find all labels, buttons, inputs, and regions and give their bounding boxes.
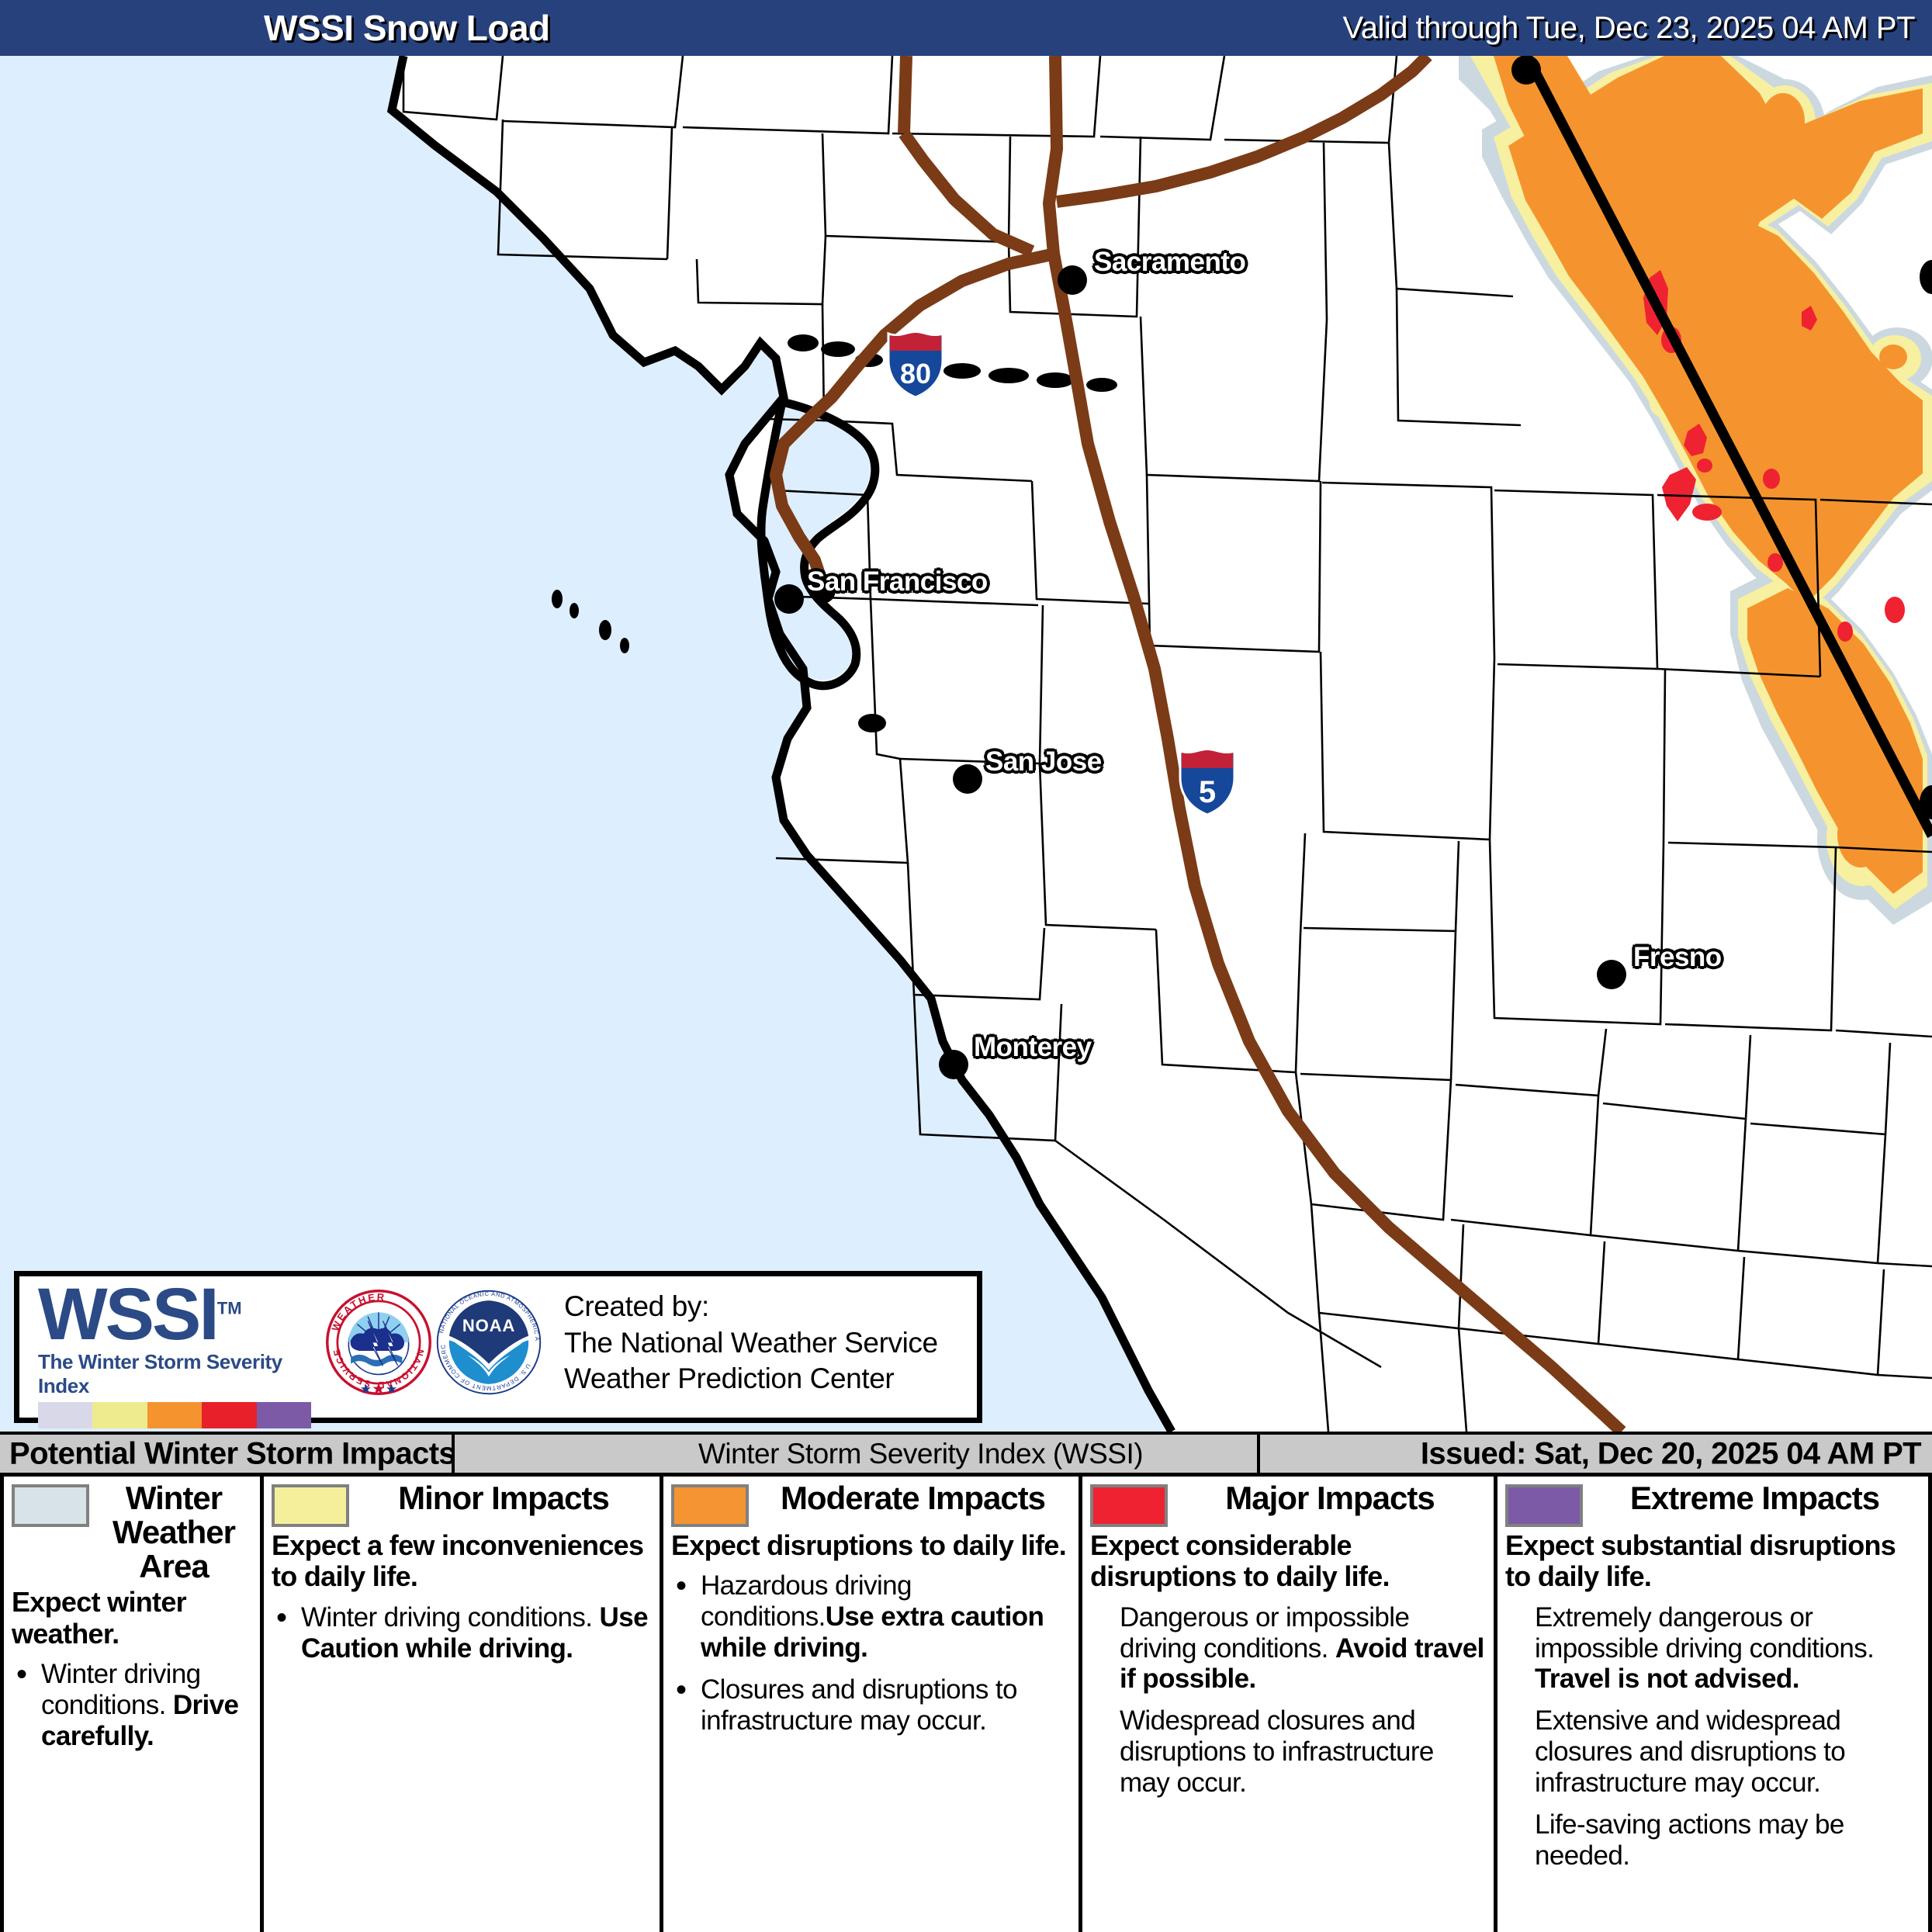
legend-bullet: Extensive and widespread closures and di… (1505, 1705, 1920, 1799)
status-bar: Potential Winter Storm Impacts Winter St… (0, 1432, 1932, 1477)
legend-bullets-extreme: Extremely dangerous or impossible drivin… (1505, 1602, 1920, 1871)
status-bar-divider-1 (452, 1435, 455, 1473)
wssi-subtitle: The Winter Storm Severity Index (38, 1350, 322, 1398)
bullet-plain-text: Widespread closures and disruptions to i… (1120, 1705, 1434, 1798)
status-bar-left-label: Potential Winter Storm Impacts (9, 1436, 455, 1471)
legend-swatch-winter-weather-area (12, 1484, 89, 1527)
created-by-line-1: Created by: (564, 1289, 938, 1325)
wssi-brand: WSSITM The Winter Storm Severity Index (19, 1276, 322, 1428)
scale-swatch-minor (92, 1402, 147, 1428)
legend-swatch-minor (272, 1484, 349, 1527)
nws-seal-icon: WEATHER NATIONAL SERVICE (325, 1289, 432, 1396)
legend-swatch-moderate (671, 1484, 749, 1527)
scale-swatch-extreme (257, 1402, 311, 1428)
legend-bullets-moderate: Hazardous driving conditions.Use extra c… (671, 1570, 1071, 1736)
legend-column-minor[interactable]: Minor Impacts Expect a few inconvenience… (264, 1477, 663, 1932)
status-bar-issued-label: Issued: Sat, Dec 20, 2025 04 AM PT (1421, 1436, 1921, 1471)
wssi-color-scale (38, 1402, 311, 1428)
created-by-line-3: Weather Prediction Center (564, 1361, 938, 1397)
created-by-block: Created by: The National Weather Service… (564, 1289, 938, 1397)
valid-through-text: Valid through Tue, Dec 23, 2025 04 AM PT (1343, 11, 1916, 46)
legend-summary-major: Expect considerable disruptions to daily… (1090, 1530, 1486, 1593)
scale-swatch-major (202, 1402, 256, 1428)
legend-title-winter-weather-area: Winter Weather Area (89, 1481, 252, 1584)
legend-title-extreme: Extreme Impacts (1583, 1481, 1920, 1515)
wssi-trademark: TM (217, 1298, 242, 1317)
created-by-line-2: The National Weather Service (564, 1325, 938, 1362)
agency-seals: WEATHER NATIONAL SERVICE (325, 1289, 542, 1396)
scale-swatch-winter-weather-area (38, 1402, 92, 1428)
impact-legend: Winter Weather Area Expect winter weathe… (0, 1477, 1932, 1932)
legend-column-moderate[interactable]: Moderate Impacts Expect disruptions to d… (663, 1477, 1082, 1932)
status-bar-divider-2 (1257, 1435, 1260, 1473)
page-title: WSSI Snow Load (264, 7, 550, 49)
legend-bullet: Life-saving actions may be needed. (1505, 1809, 1920, 1871)
bullet-plain-text: Extremely dangerous or impossible drivin… (1535, 1602, 1874, 1664)
city-dot-sacramento (1058, 265, 1087, 295)
map-graphic (0, 56, 1932, 1432)
legend-summary-moderate: Expect disruptions to daily life. (671, 1530, 1071, 1561)
city-dot-san-francisco (774, 584, 804, 614)
svg-text:NOAA: NOAA (462, 1316, 515, 1335)
map-canvas[interactable]: Sacramento San Francisco San Jose Fresno… (0, 56, 1932, 1432)
wssi-wordmark: WSSITM (38, 1281, 322, 1349)
city-dot-san-jose (953, 764, 982, 794)
legend-bullets-minor: Winter driving conditions. Use Caution w… (272, 1602, 652, 1664)
legend-title-major: Major Impacts (1168, 1481, 1486, 1515)
scale-swatch-moderate (147, 1402, 202, 1428)
noaa-seal-icon: NOAA NATIONAL OCEANIC AND ATMOSPHERIC AD… (435, 1289, 542, 1396)
city-dot-fresno (1597, 960, 1626, 989)
legend-column-major[interactable]: Major Impacts Expect considerable disrup… (1082, 1477, 1497, 1932)
legend-bullet: Hazardous driving conditions.Use extra c… (671, 1570, 1071, 1664)
legend-column-winter-weather-area[interactable]: Winter Weather Area Expect winter weathe… (0, 1477, 264, 1932)
bullet-plain-text: Extensive and widespread closures and di… (1535, 1705, 1845, 1798)
legend-summary-extreme: Expect substantial disruptions to daily … (1505, 1530, 1920, 1593)
legend-summary-minor: Expect a few inconveniences to daily lif… (272, 1530, 652, 1593)
legend-title-moderate: Moderate Impacts (749, 1481, 1071, 1515)
bullet-bold-text: Travel is not advised. (1535, 1664, 1799, 1694)
legend-swatch-extreme (1505, 1484, 1583, 1527)
legend-bullet: Winter driving conditions. Use Caution w… (272, 1602, 652, 1664)
bullet-plain-text: Closures and disruptions to infrastructu… (701, 1674, 1017, 1736)
bullet-plain-text: Winter driving conditions. (301, 1602, 600, 1633)
legend-column-extreme[interactable]: Extreme Impacts Expect substantial disru… (1497, 1477, 1932, 1932)
legend-bullet: Extremely dangerous or impossible drivin… (1505, 1602, 1920, 1695)
svg-text:5: 5 (1199, 775, 1216, 809)
bullet-plain-text: Life-saving actions may be needed. (1535, 1809, 1844, 1871)
status-bar-center-label: Winter Storm Severity Index (WSSI) (698, 1438, 1143, 1470)
legend-bullets-major: Dangerous or impossible driving conditio… (1090, 1602, 1486, 1799)
legend-title-minor: Minor Impacts (349, 1481, 652, 1515)
interstate-80-shield[interactable]: 80 (886, 331, 945, 399)
legend-bullets-winter-weather-area: Winter driving conditions. Drive careful… (12, 1659, 252, 1752)
wssi-attribution-box: WSSITM The Winter Storm Severity Index (14, 1271, 982, 1423)
interstate-5-shield[interactable]: 5 (1178, 748, 1237, 816)
legend-bullet: Winter driving conditions. Drive careful… (12, 1659, 252, 1752)
legend-bullet: Dangerous or impossible driving conditio… (1090, 1602, 1486, 1695)
svg-text:80: 80 (900, 358, 931, 390)
legend-bullet: Closures and disruptions to infrastructu… (671, 1674, 1071, 1736)
legend-swatch-major (1090, 1484, 1168, 1527)
city-dot-reno (1511, 56, 1541, 85)
legend-bullet: Widespread closures and disruptions to i… (1090, 1705, 1486, 1799)
city-dot-monterey (939, 1050, 968, 1079)
legend-summary-winter-weather-area: Expect winter weather. (12, 1587, 252, 1650)
header-bar: WSSI Snow Load Valid through Tue, Dec 23… (0, 0, 1932, 56)
